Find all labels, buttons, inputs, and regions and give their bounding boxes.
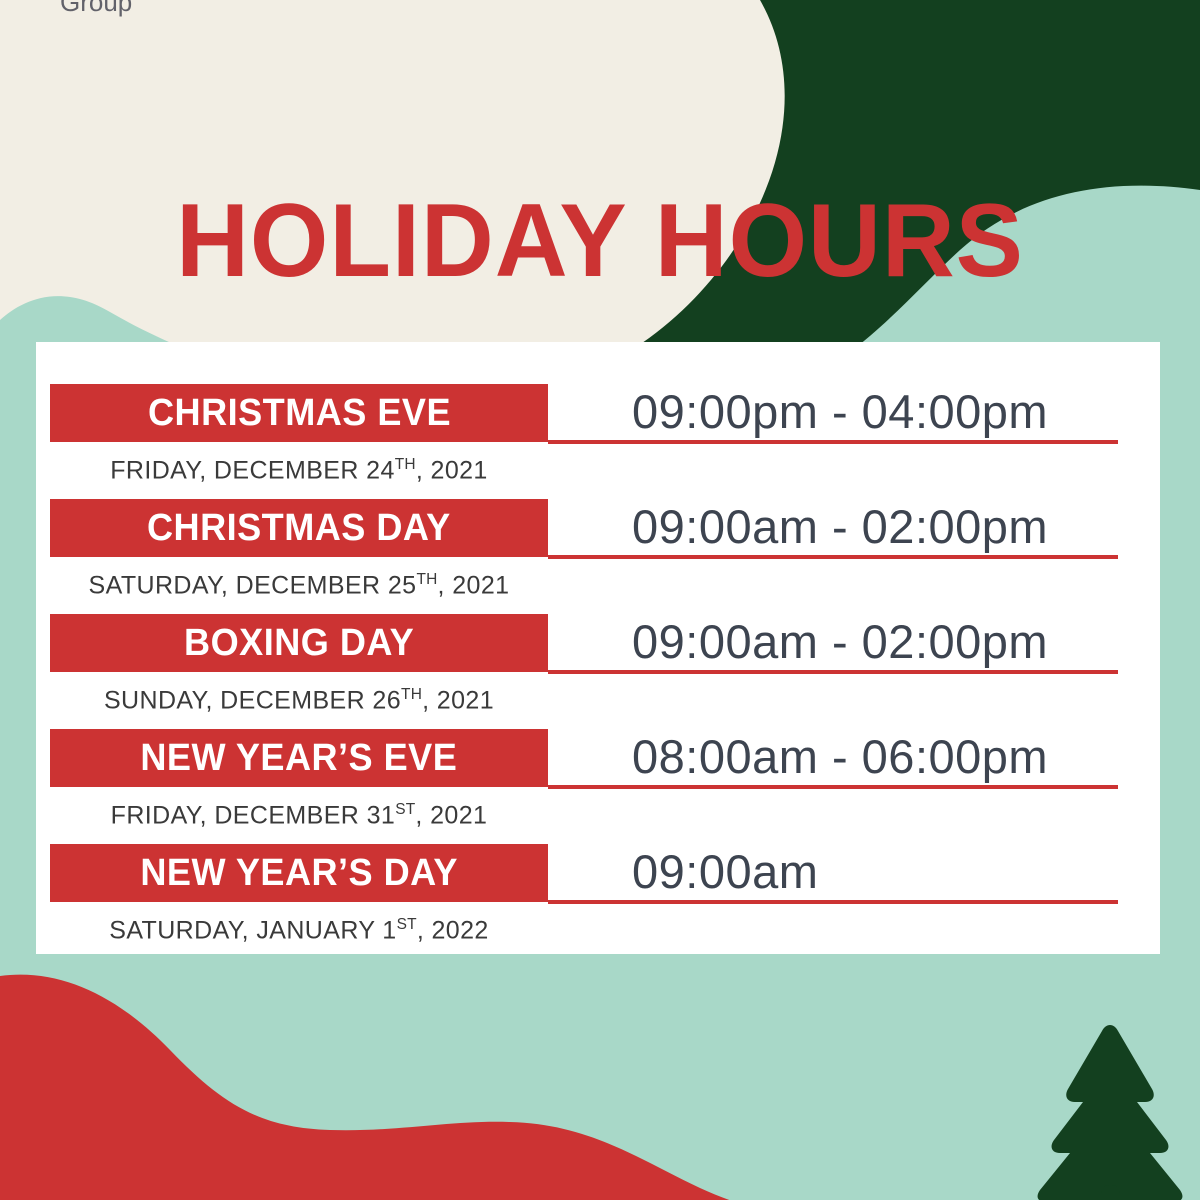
date-weekday: SATURDAY, JANUARY 1 <box>109 916 396 944</box>
date-year: , 2022 <box>417 916 489 944</box>
holiday-date-text: SATURDAY, DECEMBER 25TH, 2021 <box>50 563 548 602</box>
holiday-name-label: NEW YEAR’S EVE <box>141 738 458 778</box>
date-ordinal: TH <box>401 686 422 703</box>
holiday-name-label: NEW YEAR’S DAY <box>140 853 458 893</box>
schedule-rows: CHRISTMAS EVE 09:00pm - 04:00pm FRIDAY, … <box>36 342 1160 959</box>
date-year: , 2021 <box>438 571 510 599</box>
holiday-name-banner: BOXING DAY <box>50 614 548 672</box>
holiday-hours-text: 09:00am - 02:00pm <box>632 495 1152 559</box>
holiday-name-banner: NEW YEAR’S DAY <box>50 844 548 902</box>
schedule-row: NEW YEAR’S DAY 09:00am SATURDAY, JANUARY… <box>36 844 1160 959</box>
schedule-row: NEW YEAR’S EVE 08:00am - 06:00pm FRIDAY,… <box>36 729 1160 844</box>
holiday-date-text: SATURDAY, JANUARY 1ST, 2022 <box>50 908 548 947</box>
date-weekday: SUNDAY, DECEMBER 26 <box>104 686 401 714</box>
holiday-date-text: SUNDAY, DECEMBER 26TH, 2021 <box>50 678 548 717</box>
date-year: , 2021 <box>415 801 487 829</box>
holiday-name-banner: NEW YEAR’S EVE <box>50 729 548 787</box>
date-weekday: SATURDAY, DECEMBER 25 <box>89 571 417 599</box>
date-weekday: FRIDAY, DECEMBER 24 <box>110 456 395 484</box>
holiday-name-banner: CHRISTMAS EVE <box>50 384 548 442</box>
schedule-row: CHRISTMAS EVE 09:00pm - 04:00pm FRIDAY, … <box>36 384 1160 499</box>
holiday-hours-text: 08:00am - 06:00pm <box>632 725 1152 789</box>
holiday-date-text: FRIDAY, DECEMBER 31ST, 2021 <box>50 793 548 832</box>
holiday-date-text: FRIDAY, DECEMBER 24TH, 2021 <box>50 448 548 487</box>
holiday-name-label: BOXING DAY <box>184 623 414 663</box>
top-clipped-text: Group <box>60 0 132 18</box>
holiday-name-banner: CHRISTMAS DAY <box>50 499 548 557</box>
date-ordinal: TH <box>416 571 437 588</box>
date-ordinal: ST <box>397 916 417 933</box>
holiday-name-label: CHRISTMAS EVE <box>147 393 450 433</box>
schedule-row: CHRISTMAS DAY 09:00am - 02:00pm SATURDAY… <box>36 499 1160 614</box>
schedule-card: CHRISTMAS EVE 09:00pm - 04:00pm FRIDAY, … <box>36 342 1160 954</box>
date-ordinal: TH <box>395 456 416 473</box>
holiday-hours-text: 09:00am <box>632 840 1152 904</box>
date-ordinal: ST <box>395 801 415 818</box>
date-year: , 2021 <box>422 686 494 714</box>
date-year: , 2021 <box>416 456 488 484</box>
page-title: HOLIDAY HOURS <box>18 186 1182 296</box>
holiday-hours-text: 09:00pm - 04:00pm <box>632 380 1152 444</box>
holiday-hours-text: 09:00am - 02:00pm <box>632 610 1152 674</box>
date-weekday: FRIDAY, DECEMBER 31 <box>111 801 396 829</box>
holiday-hours-poster: Group HOLIDAY HOURS CHRISTMAS EVE 09:00p… <box>0 0 1200 1200</box>
holiday-name-label: CHRISTMAS DAY <box>147 508 451 548</box>
schedule-row: BOXING DAY 09:00am - 02:00pm SUNDAY, DEC… <box>36 614 1160 729</box>
